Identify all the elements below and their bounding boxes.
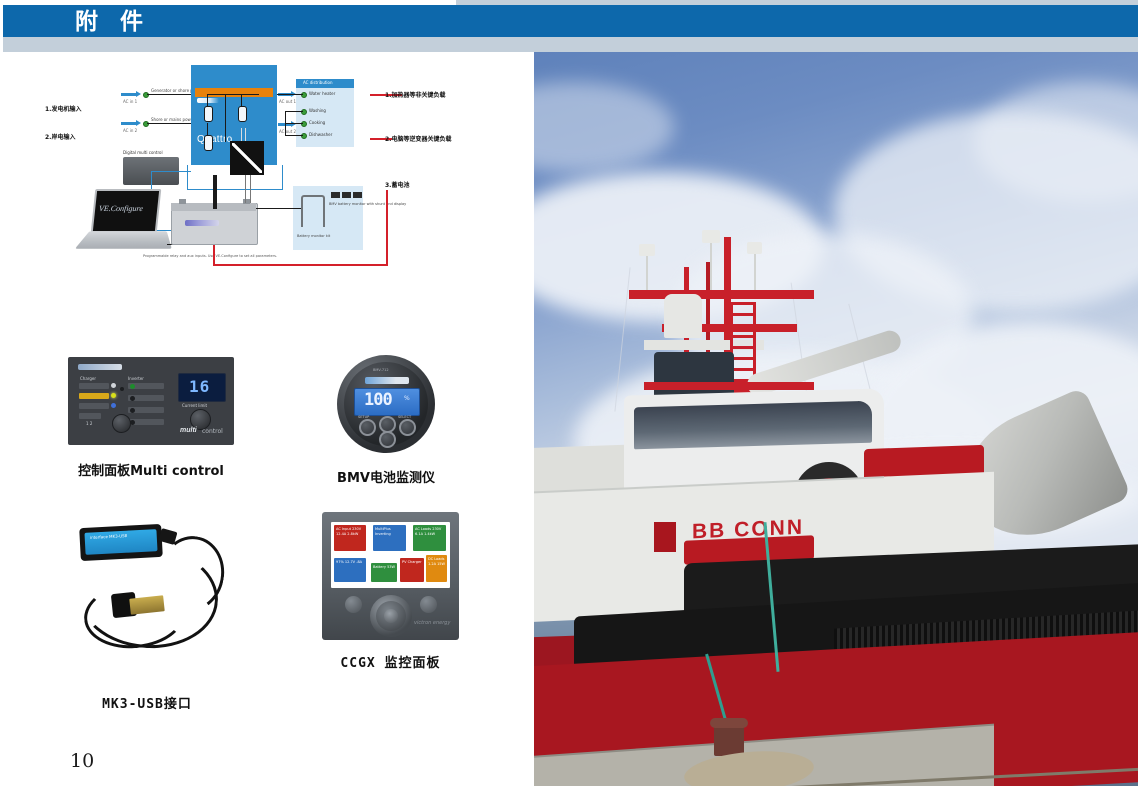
mast-equipment-box — [664, 294, 702, 338]
bmv-display-icon — [353, 192, 362, 198]
multi-control-row — [79, 403, 109, 409]
status-led — [120, 387, 124, 391]
dc-negative-wire — [250, 175, 251, 203]
ccgx-cell-battery-soc: 97% 12.7V -8A — [334, 558, 366, 582]
quattro-label: Quattro — [197, 134, 232, 145]
port-label-ac-out-2: AC out 2 — [279, 129, 296, 134]
ac-load-node — [301, 92, 307, 98]
out2-wire — [285, 135, 303, 136]
internal-wire — [241, 94, 242, 106]
ccgx-cell-ac-input: AC Input 230V 12.4A 2.8kW — [334, 525, 366, 551]
input-arrow-head — [136, 120, 141, 126]
ac-panel-header-text: AC distribution — [303, 80, 333, 85]
caption-bmv-monitor: BMV电池监测仪 — [336, 467, 436, 486]
multi-control-row — [79, 393, 109, 399]
ac-load-node — [301, 121, 307, 127]
dc-positive-wire — [213, 175, 217, 209]
multi-control-row — [79, 383, 109, 389]
multi-control-knob-label: Current limit — [182, 403, 207, 408]
ccgx-dpad-center-button[interactable] — [384, 609, 398, 623]
battery-terminal — [179, 199, 186, 204]
laptop-keyboard — [75, 231, 172, 249]
internal-wire — [225, 94, 226, 142]
callout-label-non-critical: 1.加热器等非关键负载 — [385, 90, 445, 99]
diagram-label-shore-input: 2.岸电输入 — [45, 132, 75, 141]
input-text-shore: Shore or mains power — [151, 117, 195, 122]
product-multi-control: Charger Inverter 16 Current limit 1 2 — [68, 357, 234, 445]
page-root: 附 件 — [0, 0, 1138, 786]
bmv-display-value: 100 — [364, 390, 392, 410]
port-label-ac-in-1: AC in 1 — [123, 99, 137, 104]
bmv-display-unit: % — [404, 395, 410, 402]
victron-logo-icon — [78, 364, 122, 370]
vebus-cable — [151, 171, 191, 172]
ccgx-cell-battery: Battery 53W — [371, 563, 397, 582]
out2-wire — [285, 111, 303, 112]
status-led — [111, 403, 116, 408]
callout-line-3-horizontal — [213, 264, 388, 266]
laptop-software-label: VE.Configure — [99, 204, 144, 213]
callout-line-3-riser — [213, 245, 215, 266]
mast-crossarm — [629, 290, 814, 299]
multi-control-brand: multi — [180, 427, 197, 434]
bmv-shunt-icon — [301, 195, 325, 227]
caption-multi-control: 控制面板Multi control — [68, 460, 234, 479]
ccgx-right-button[interactable] — [420, 596, 437, 613]
port-label-ac-out-1: AC out 1 — [279, 99, 296, 104]
ac-load-washing: Washing — [309, 108, 326, 113]
input-arrow-bar — [121, 122, 136, 125]
antenna-stick — [646, 252, 648, 292]
callout-line-3-vertical — [386, 190, 388, 266]
dc-negative-wire — [245, 175, 246, 203]
bmv-setup-label: SETUP — [358, 415, 369, 419]
mooring-bollard-cap — [710, 718, 748, 728]
left-content-column: 1.发电机输入 2.岸电输入 Generator or shore power … — [0, 52, 534, 786]
header-grey-bar — [3, 37, 1138, 52]
product-mk3-usb: interface MK3-USB — [72, 522, 242, 642]
status-led — [111, 383, 116, 388]
internal-busbar — [207, 94, 259, 95]
callout-label-battery: 3.蓄电池 — [385, 180, 409, 189]
product-bmv-monitor: BMV-712 100 % SETUP SELECT — [337, 355, 435, 453]
input-node — [143, 92, 149, 98]
page-number: 10 — [70, 750, 94, 772]
ac-load-water-heater: Water heater — [309, 91, 335, 96]
system-diagram: 1.发电机输入 2.岸电输入 Generator or shore power … — [45, 62, 495, 277]
fuse-icon — [204, 135, 213, 151]
navigation-light — [747, 242, 762, 254]
diagram-label-generator-input: 1.发电机输入 — [45, 104, 81, 113]
bmv-display-icon — [342, 192, 351, 198]
ccgx-screen: AC Input 230V 12.4A 2.8kW MultiPlus Inve… — [331, 522, 450, 588]
tugboat-photo: BB CONN — [534, 52, 1138, 786]
ccgx-cell-dc-loads: DC Loads 1.2A 15W — [426, 555, 447, 582]
ccgx-brand: victron energy — [414, 620, 450, 626]
out1-wire — [277, 94, 303, 95]
ac-load-node — [301, 133, 307, 139]
page-title: 附 件 — [75, 7, 145, 37]
wheelhouse-windows — [634, 401, 872, 450]
ccgx-left-button[interactable] — [345, 596, 362, 613]
navigation-light — [702, 230, 720, 243]
callout-label-critical: 2.电脑等逆变器关键负载 — [385, 134, 451, 143]
bmv-panel-subtext: Battery monitor kit — [297, 234, 330, 238]
input-arrow-bar — [121, 93, 136, 96]
victron-logo-icon — [365, 377, 409, 384]
deck-post — [654, 522, 676, 552]
ccgx-cell-multiplus: MultiPlus Inverting — [373, 525, 406, 551]
bmv-display-icon — [331, 192, 340, 198]
bmv-minus-button[interactable] — [379, 431, 396, 448]
product-ccgx-panel: AC Input 230V 12.4A 2.8kW MultiPlus Inve… — [322, 512, 459, 640]
internal-wire — [207, 123, 208, 135]
caption-mk3-usb: MK3-USB接口 — [62, 693, 232, 712]
antenna-stick — [754, 252, 756, 292]
multi-control-dial-label: 1 2 — [86, 421, 92, 426]
input-node — [143, 121, 149, 127]
multi-control-row — [79, 413, 101, 419]
ccgx-cell-pv-charger: PV Charger — [400, 558, 424, 582]
multi-control-inverter-header: Inverter — [128, 376, 144, 381]
multi-control-brand-sub: control — [202, 428, 223, 435]
out2-wire — [285, 123, 303, 124]
bmv-select-label: SELECT — [398, 415, 411, 419]
mast-crossarm — [644, 382, 814, 390]
mode-selector-knob[interactable] — [112, 414, 131, 433]
ac-load-dishwasher: Dishwasher — [309, 132, 332, 137]
bmv-model-text: BMV-712 — [373, 368, 389, 372]
shunt-wire — [256, 208, 301, 209]
caption-ccgx-panel: CCGX 监控面板 — [318, 652, 463, 671]
vebus-device-label: Digital multi control — [123, 150, 163, 155]
header-blue-bar — [3, 5, 1138, 37]
status-led — [130, 396, 135, 401]
internal-wire — [245, 128, 246, 142]
diagram-footnote: Programmable relay and aux inputs. Use V… — [143, 254, 277, 259]
internal-wire — [207, 94, 208, 106]
bmv-panel-text: BMV battery monitor with shunt and displ… — [329, 202, 406, 207]
victron-logo-icon — [197, 98, 219, 103]
multi-control-display-value: 16 — [189, 377, 210, 396]
ac-load-node — [301, 109, 307, 115]
multi-control-charger-header: Charger — [80, 376, 96, 381]
ccgx-cell-ac-loads: AC Loads 230V 6.1A 1.4kW — [413, 525, 446, 551]
status-led — [130, 384, 135, 389]
port-label-ac-in-2: AC in 2 — [123, 128, 137, 133]
inverter-slash-icon — [232, 143, 262, 173]
antenna-stick — [710, 240, 712, 292]
input-arrow-head — [136, 91, 141, 97]
bmv-select-button[interactable] — [399, 419, 416, 436]
navigation-light — [639, 244, 655, 256]
status-led — [130, 408, 135, 413]
ac-load-cooking: Cooking — [309, 120, 325, 125]
battery-brand-logo — [185, 220, 219, 226]
status-led — [111, 393, 116, 398]
internal-wire — [241, 128, 242, 142]
fuse-icon — [204, 106, 213, 122]
fuse-icon — [238, 106, 247, 122]
bmv-setup-button[interactable] — [359, 419, 376, 436]
